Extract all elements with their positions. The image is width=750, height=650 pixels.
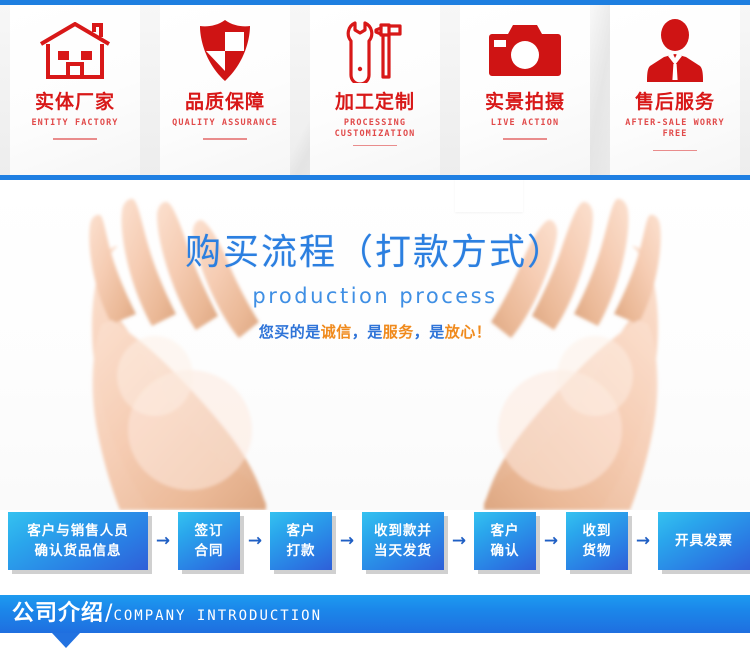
flow-step-customer-confirm[interactable]: 客户 确认 bbox=[474, 512, 536, 570]
hero-tagline-part-6: 放心！ bbox=[445, 323, 492, 341]
flow-step-line2: 确认货品信息 bbox=[35, 541, 122, 561]
flow-step-line1: 客户 bbox=[287, 521, 316, 541]
promo-page: 实体厂家 ENTITY FACTORY 品质保障 QUALITY ASSURAN… bbox=[0, 0, 750, 650]
feature-card-title: 售后服务 bbox=[635, 93, 715, 112]
flow-step-line1: 开具发票 bbox=[675, 531, 733, 551]
flow-step-line2: 打款 bbox=[287, 541, 316, 561]
flow-step-line2: 合同 bbox=[195, 541, 224, 561]
person-icon bbox=[646, 11, 704, 91]
feature-card-underline bbox=[503, 138, 547, 140]
section-header-company-introduction[interactable]: 公司介绍 / COMPANY INTRODUCTION bbox=[0, 595, 750, 633]
hero-section: 购买流程（打款方式） production process 您买的是诚信，是服务… bbox=[0, 180, 750, 510]
flow-step-same-day-shipping[interactable]: 收到款并 当天发货 bbox=[362, 512, 444, 570]
feature-card-subtitle: ENTITY FACTORY bbox=[31, 118, 118, 129]
section-header-separator: / bbox=[105, 603, 112, 625]
hero-tagline-part-4: 服务 bbox=[383, 323, 414, 341]
purchase-flow-diagram: 客户与销售人员 确认货品信息 → 签订 合同 → 客户 打款 → 收到款并 当天… bbox=[0, 512, 750, 590]
feature-card-processing-customization[interactable]: 加工定制 PROCESSING CUSTOMIZATION bbox=[310, 5, 440, 175]
feature-card-underline bbox=[53, 138, 97, 140]
hero-title: 购买流程（打款方式） bbox=[0, 232, 750, 273]
flow-arrow-icon: → bbox=[444, 512, 474, 570]
feature-card-subtitle: LIVE ACTION bbox=[491, 118, 559, 129]
flow-step-goods-received[interactable]: 收到 货物 bbox=[566, 512, 628, 570]
feature-card-subtitle-line1: PROCESSING bbox=[344, 118, 406, 128]
hero-tagline-part-5: ，是 bbox=[414, 323, 445, 341]
feature-card-title: 实体厂家 bbox=[35, 93, 115, 112]
feature-card-live-action[interactable]: 实景拍摄 LIVE ACTION bbox=[460, 5, 590, 175]
flow-step-line1: 收到款并 bbox=[374, 521, 432, 541]
section-header-en: COMPANY INTRODUCTION bbox=[113, 606, 322, 623]
feature-card-subtitle-line2: CUSTOMIZATION bbox=[335, 129, 416, 139]
flow-step-line2: 货物 bbox=[583, 541, 612, 561]
flow-step-line1: 签订 bbox=[195, 521, 224, 541]
section-header-notch-triangle bbox=[52, 633, 80, 648]
hero-tagline-part-3: ，是 bbox=[352, 323, 383, 341]
feature-card-subtitle: QUALITY ASSURANCE bbox=[172, 118, 278, 129]
flow-arrow-icon: → bbox=[332, 512, 362, 570]
feature-card-entity-factory[interactable]: 实体厂家 ENTITY FACTORY bbox=[10, 5, 140, 175]
flow-step-confirm-goods-info[interactable]: 客户与销售人员 确认货品信息 bbox=[8, 512, 148, 570]
feature-card-title: 实景拍摄 bbox=[485, 93, 565, 112]
flow-arrow-icon: → bbox=[240, 512, 270, 570]
flow-arrow-icon: → bbox=[148, 512, 178, 570]
feature-card-subtitle: PROCESSING CUSTOMIZATION bbox=[335, 118, 416, 141]
camera-icon bbox=[489, 11, 561, 91]
feature-card-quality-assurance[interactable]: 品质保障 QUALITY ASSURANCE bbox=[160, 5, 290, 175]
feature-card-subtitle: AFTER-SALE WORRY FREE bbox=[610, 118, 740, 141]
feature-card-title: 加工定制 bbox=[335, 93, 415, 112]
flow-step-line2: 当天发货 bbox=[374, 541, 432, 561]
flow-arrow-icon: → bbox=[628, 512, 658, 570]
feature-card-title: 品质保障 bbox=[185, 93, 265, 112]
tools-icon bbox=[343, 11, 407, 91]
feature-card-after-sale[interactable]: 售后服务 AFTER-SALE WORRY FREE bbox=[610, 5, 740, 175]
hero-subtitle: production process bbox=[0, 284, 750, 308]
flow-step-line1: 收到 bbox=[583, 521, 612, 541]
flow-step-issue-invoice[interactable]: 开具发票 bbox=[658, 512, 750, 570]
section-header-zh: 公司介绍 bbox=[12, 603, 104, 625]
flow-arrow-icon: → bbox=[536, 512, 566, 570]
flow-step-line2: 确认 bbox=[491, 541, 520, 561]
hero-tagline: 您买的是诚信，是服务，是放心！ bbox=[0, 321, 750, 342]
feature-card-underline bbox=[653, 150, 697, 152]
hands-illustration bbox=[0, 180, 750, 510]
feature-card-underline bbox=[353, 145, 397, 147]
hero-tagline-part-1: 您买的是 bbox=[259, 323, 321, 341]
hero-tagline-part-2: 诚信 bbox=[321, 323, 352, 341]
feature-banner: 实体厂家 ENTITY FACTORY 品质保障 QUALITY ASSURAN… bbox=[0, 5, 750, 175]
flow-step-customer-payment[interactable]: 客户 打款 bbox=[270, 512, 332, 570]
flow-step-line1: 客户 bbox=[491, 521, 520, 541]
flow-step-line1: 客户与销售人员 bbox=[27, 521, 129, 541]
house-icon bbox=[38, 11, 112, 91]
flow-step-sign-contract[interactable]: 签订 合同 bbox=[178, 512, 240, 570]
feature-card-underline bbox=[203, 138, 247, 140]
hero-text-block: 购买流程（打款方式） production process 您买的是诚信，是服务… bbox=[0, 232, 750, 342]
shield-icon bbox=[197, 11, 253, 91]
